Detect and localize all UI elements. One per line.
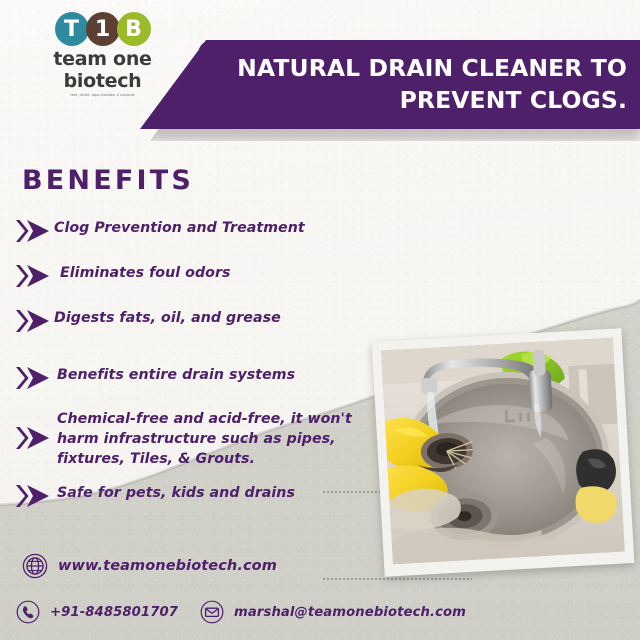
globe-icon bbox=[22, 553, 48, 579]
double-chevron-arrow-icon bbox=[14, 426, 54, 455]
banner-title: NATURAL DRAIN CLEANER TO PREVENT CLOGS. bbox=[237, 53, 640, 115]
benefit-text: Chemical-free and acid-free, it won't ha… bbox=[54, 409, 387, 469]
double-chevron-arrow-icon bbox=[14, 366, 54, 395]
benefit-text: Benefits entire drain systems bbox=[54, 365, 295, 385]
contact-website[interactable]: www.teamonebiotech.com bbox=[22, 553, 277, 579]
product-photo-frame bbox=[372, 328, 635, 577]
banner-title-line1: NATURAL DRAIN CLEANER TO bbox=[237, 53, 627, 84]
banner-corner-round bbox=[198, 40, 218, 56]
sink-cleaning-photo bbox=[381, 338, 625, 565]
email-text: marshal@teamonebiotech.com bbox=[234, 605, 466, 620]
double-chevron-arrow-icon bbox=[14, 309, 54, 338]
benefit-text: Eliminates foul odors bbox=[54, 263, 231, 283]
phone-text: +91-8485801707 bbox=[50, 605, 178, 620]
benefits-heading: BENEFITS bbox=[22, 165, 194, 196]
benefit-item: Chemical-free and acid-free, it won't ha… bbox=[14, 409, 394, 469]
poster-canvas: T 1 B team one biotech feed, florish, aq… bbox=[0, 0, 640, 640]
benefit-text: Clog Prevention and Treatment bbox=[54, 218, 305, 238]
email-icon bbox=[200, 600, 224, 624]
benefit-item: Digests fats, oil, and grease bbox=[14, 308, 394, 338]
double-chevron-arrow-icon bbox=[14, 484, 54, 513]
benefit-text: Digests fats, oil, and grease bbox=[54, 308, 281, 328]
decorative-dotted-line bbox=[322, 578, 472, 580]
logo-circle-t: T bbox=[55, 12, 89, 46]
benefit-item: Benefits entire drain systems bbox=[14, 365, 394, 395]
contact-bar: +91-8485801707 marshal@teamonebiotech.co… bbox=[16, 600, 466, 624]
double-chevron-arrow-icon bbox=[14, 219, 54, 248]
benefit-item: Eliminates foul odors bbox=[14, 263, 394, 293]
double-chevron-arrow-icon bbox=[14, 264, 54, 293]
header-banner: NATURAL DRAIN CLEANER TO PREVENT CLOGS. bbox=[130, 40, 640, 140]
benefit-item: Clog Prevention and Treatment bbox=[14, 218, 394, 248]
banner-title-line2: PREVENT CLOGS. bbox=[237, 85, 627, 116]
website-text: www.teamonebiotech.com bbox=[58, 558, 277, 574]
benefit-item: Safe for pets, kids and drains bbox=[14, 483, 394, 513]
logo-circle-1: 1 bbox=[86, 12, 120, 46]
phone-icon bbox=[16, 600, 40, 624]
benefits-list: Clog Prevention and Treatment Eliminates… bbox=[14, 218, 394, 527]
benefit-text: Safe for pets, kids and drains bbox=[54, 483, 295, 503]
